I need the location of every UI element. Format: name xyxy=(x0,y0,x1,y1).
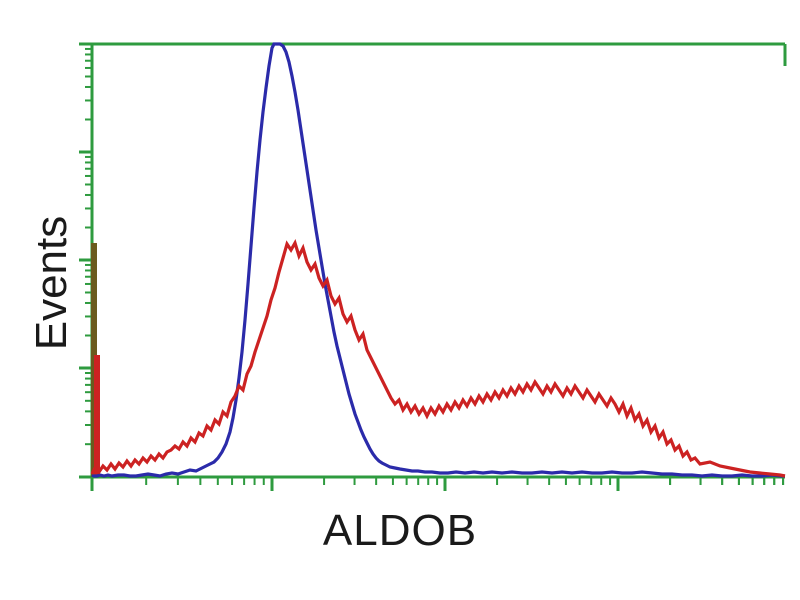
histogram-trace-aldob-stained-sample xyxy=(92,243,785,476)
y-axis-ticks xyxy=(79,44,92,477)
histogram-trace-control-sample xyxy=(92,44,785,476)
flow-cytometry-figure: Events ALDOB xyxy=(0,0,800,600)
x-axis-ticks xyxy=(92,477,783,491)
y-axis-label: Events xyxy=(27,173,77,393)
x-axis-label: ALDOB xyxy=(0,506,800,556)
